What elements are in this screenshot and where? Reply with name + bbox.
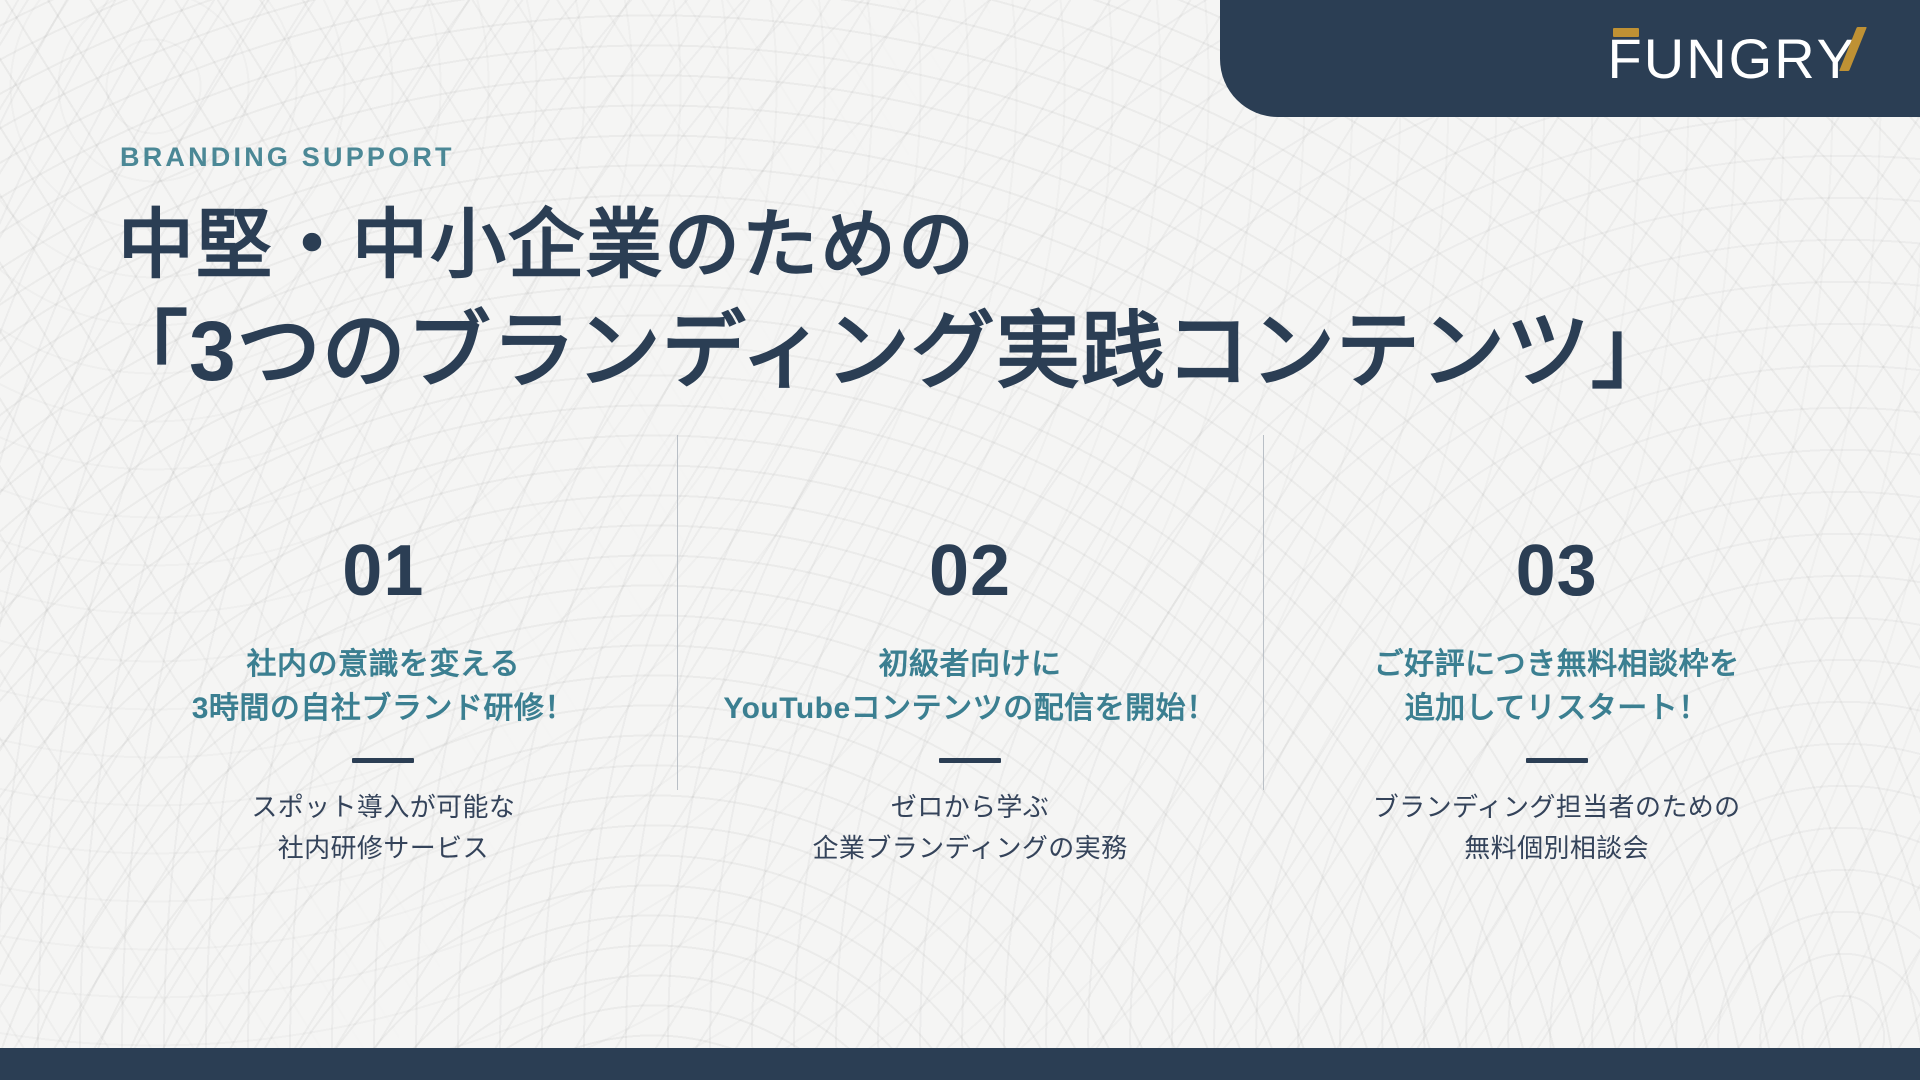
column-subtext: ブランディング担当者のための 無料個別相談会 — [1277, 787, 1836, 870]
column-subtext-line-1: ブランディング担当者のための — [1277, 787, 1836, 829]
column-headline-line-2: 3時間の自社ブランド研修！ — [104, 687, 663, 731]
feature-column-01: 01 社内の意識を変える 3時間の自社ブランド研修！ スポット導入が可能な 社内… — [90, 535, 677, 870]
column-subtext-line-1: スポット導入が可能な — [104, 787, 663, 829]
column-headline-line-2: YouTubeコンテンツの配信を開始！ — [691, 687, 1250, 731]
bottom-accent-bar — [0, 1048, 1920, 1080]
column-rule — [939, 758, 1001, 763]
feature-column-03: 03 ご好評につき無料相談枠を 追加してリスタート！ ブランディング担当者のため… — [1263, 535, 1850, 870]
column-subtext: ゼロから学ぶ 企業ブランディングの実務 — [691, 787, 1250, 870]
column-subtext-line-1: ゼロから学ぶ — [691, 787, 1250, 829]
column-number: 02 — [691, 535, 1250, 607]
column-headline-line-1: 初級者向けに — [691, 643, 1250, 687]
feature-column-02: 02 初級者向けに YouTubeコンテンツの配信を開始！ ゼロから学ぶ 企業ブ… — [677, 535, 1264, 870]
column-divider — [677, 435, 678, 790]
logo-gold-f-bar-icon — [1613, 28, 1639, 37]
page-title: 中堅・中小企業のための 「3つのブランディング実践コンテンツ」 — [118, 200, 1676, 403]
column-headline: ご好評につき無料相談枠を 追加してリスタート！ — [1277, 643, 1836, 732]
column-headline-line-2: 追加してリスタート！ — [1277, 687, 1836, 731]
fungry-logo: FUNGR Y — [1608, 31, 1856, 87]
logo-plate: FUNGR Y — [1220, 0, 1920, 117]
column-number: 01 — [104, 535, 663, 607]
column-divider — [1263, 435, 1264, 790]
logo-wordmark-main: FUNGR — [1608, 31, 1817, 87]
page-title-line-2: 「3つのブランディング実践コンテンツ」 — [104, 299, 1676, 403]
column-headline-line-1: 社内の意識を変える — [104, 643, 663, 687]
column-subtext: スポット導入が可能な 社内研修サービス — [104, 787, 663, 870]
column-headline-line-1: ご好評につき無料相談枠を — [1277, 643, 1836, 687]
column-headline: 社内の意識を変える 3時間の自社ブランド研修！ — [104, 643, 663, 732]
column-headline: 初級者向けに YouTubeコンテンツの配信を開始！ — [691, 643, 1250, 732]
feature-columns: 01 社内の意識を変える 3時間の自社ブランド研修！ スポット導入が可能な 社内… — [90, 535, 1850, 870]
column-number: 03 — [1277, 535, 1836, 607]
slide-canvas: FUNGR Y BRANDING SUPPORT 中堅・中小企業のための 「3つ… — [0, 0, 1920, 1080]
eyebrow-label: BRANDING SUPPORT — [120, 142, 455, 173]
column-subtext-line-2: 無料個別相談会 — [1277, 828, 1836, 870]
column-subtext-line-2: 企業ブランディングの実務 — [691, 828, 1250, 870]
page-title-line-1: 中堅・中小企業のための — [118, 200, 1676, 293]
column-rule — [352, 758, 414, 763]
column-subtext-line-2: 社内研修サービス — [104, 828, 663, 870]
column-rule — [1526, 758, 1588, 763]
